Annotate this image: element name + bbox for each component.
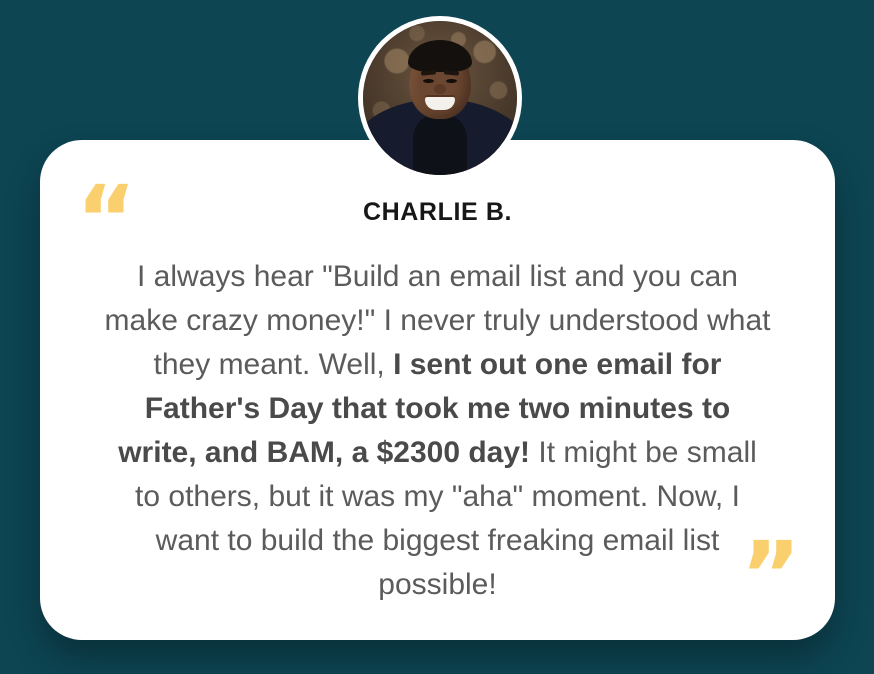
testimonial-card-screen: “ CHARLIE B. I always hear "Build an ema… bbox=[0, 0, 874, 674]
avatar bbox=[358, 16, 522, 180]
author-name: CHARLIE B. bbox=[40, 198, 835, 227]
avatar-eye-left bbox=[423, 79, 434, 83]
testimonial-card: “ CHARLIE B. I always hear "Build an ema… bbox=[40, 140, 835, 640]
quote-text: I always hear "Build an email list and y… bbox=[102, 255, 773, 607]
avatar-nose bbox=[434, 84, 446, 94]
avatar-turtleneck bbox=[413, 113, 467, 175]
avatar-photo bbox=[363, 21, 517, 175]
avatar-eye-right bbox=[446, 79, 457, 83]
quote-close-icon: ” bbox=[741, 530, 801, 622]
